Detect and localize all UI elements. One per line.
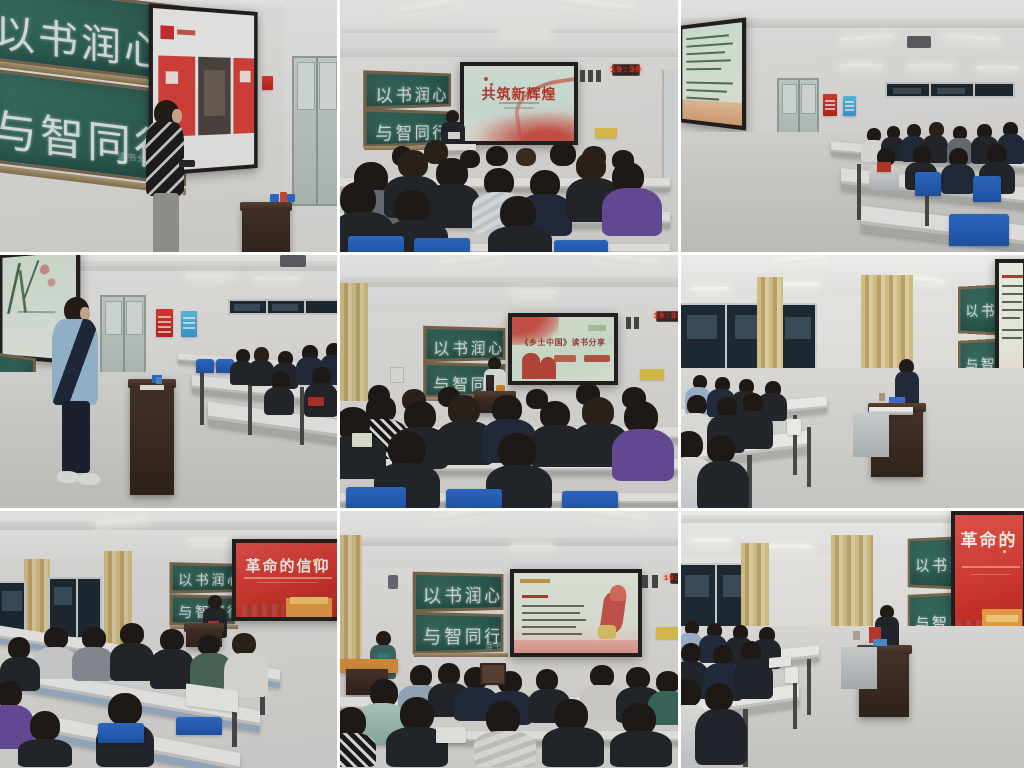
photo-4-scene — [0, 255, 337, 508]
ceiling-light — [512, 291, 556, 296]
student-jacket — [52, 319, 98, 405]
blackboard-lower: 与智同行 读书分享 — [413, 612, 504, 655]
red-book — [308, 397, 324, 406]
window-curtain — [340, 283, 368, 401]
photo-5-scene: 以书润心 与智同行 《乡土中国》读书分享 19:32 — [340, 255, 678, 508]
presenter — [140, 100, 192, 252]
photo-cell-2[interactable]: 以书润心 与智同行 共筑新辉煌 19:30 — [340, 0, 681, 255]
ceiling-light — [186, 275, 232, 280]
ceiling-light — [691, 287, 729, 292]
photo-collage: 以书润心 与智同行 读书分享会 — [0, 0, 1024, 768]
wall-poster-red — [823, 94, 837, 116]
photo-cell-4[interactable] — [0, 255, 340, 511]
blackboard-upper: 以书润心 — [170, 562, 236, 594]
photo-cell-8[interactable]: 以书润心 与智同行 读书分享 — [340, 511, 681, 768]
photo-6-scene: 以书润心 与智同行 — [681, 255, 1024, 508]
podium — [242, 202, 290, 252]
ceiling-light — [500, 30, 550, 35]
ceiling-light — [909, 64, 953, 69]
ceiling-light — [767, 545, 813, 550]
red-book — [877, 162, 891, 172]
digital-clock: 19:30 — [612, 64, 640, 76]
ceiling-light — [510, 545, 554, 550]
slide-title: 共筑新辉煌 — [464, 84, 574, 104]
projector-screen — [510, 569, 642, 657]
digital-clock: 19:32 — [656, 311, 678, 322]
slide-title: 《乡土中国》读书分享 — [512, 337, 614, 348]
ceiling-light — [254, 277, 300, 282]
chalk-text-top: 以书润心 — [422, 581, 502, 608]
slide-content — [682, 22, 742, 125]
photo-8-scene: 以书润心 与智同行 读书分享 — [340, 511, 678, 768]
projector-screen: 革命的信仰 — [232, 539, 337, 621]
presenter-jacket — [146, 122, 184, 196]
standing-student — [52, 297, 100, 491]
blackboard-upper: 以书润心 — [363, 70, 451, 109]
rear-window-band — [228, 299, 337, 315]
photo-9-scene: 以书润心 与智同行 革命的 — [681, 511, 1024, 768]
wall-poster-blue — [843, 96, 856, 116]
ceiling-light — [188, 539, 228, 544]
wall-notice — [640, 369, 664, 380]
name-card — [352, 433, 372, 447]
chalk-text-top: 以书润心 — [178, 570, 235, 591]
slide-title: 革命的信仰 — [236, 555, 337, 576]
projector-screen: 共筑新辉煌 — [460, 62, 578, 145]
digital-clock: 19:35 — [670, 573, 678, 584]
wall-poster-blue — [181, 311, 197, 337]
slide-title: 革命的 — [955, 526, 1023, 551]
slide-content: 共筑新辉煌 — [464, 66, 574, 141]
photo-2-scene: 以书润心 与智同行 共筑新辉煌 19:30 — [340, 0, 678, 252]
slide-content — [514, 573, 638, 653]
slide-content: 革命的信仰 — [236, 543, 337, 617]
wall-sign-red — [262, 76, 273, 90]
photo-1-scene: 以书润心 与智同行 读书分享会 — [0, 0, 337, 252]
slide-content: 《乡土中国》读书分享 — [512, 317, 614, 381]
projector-screen — [681, 17, 746, 130]
window-curtain — [340, 535, 362, 665]
photo-cell-7[interactable]: 以书润心 与智同行 革命的信仰 — [0, 511, 340, 768]
photo-cell-5[interactable]: 以书润心 与智同行 《乡土中国》读书分享 19:32 — [340, 255, 681, 511]
ceiling-light — [691, 539, 731, 544]
photo-cell-9[interactable]: 以书润心 与智同行 革命的 — [681, 511, 1024, 768]
wall-notice — [595, 128, 617, 138]
photo-cell-1[interactable]: 以书润心 与智同行 读书分享会 — [0, 0, 340, 255]
blackboard-upper: 以书润心 — [413, 572, 504, 613]
wall-notice — [656, 627, 678, 639]
framed-picture — [480, 663, 506, 685]
ceiling-light — [839, 64, 883, 69]
projector-screen: 《乡土中国》读书分享 — [508, 313, 618, 385]
podium — [130, 379, 174, 495]
ceiling-light — [977, 66, 1019, 71]
rear-window-band — [885, 82, 1015, 98]
white-cup — [785, 667, 798, 683]
photo-3-scene — [681, 0, 1024, 252]
white-cup — [787, 419, 801, 435]
classroom-door[interactable] — [292, 56, 337, 206]
open-notebook — [436, 727, 466, 743]
photo-7-scene: 以书润心 与智同行 革命的信仰 — [0, 511, 337, 768]
classroom-door[interactable] — [100, 295, 146, 381]
wall-poster-red — [156, 309, 173, 337]
photo-cell-6[interactable]: 以书润心 与智同行 — [681, 255, 1024, 511]
photo-cell-3[interactable] — [681, 0, 1024, 255]
chalk-text-top: 以书润心 — [375, 80, 448, 107]
